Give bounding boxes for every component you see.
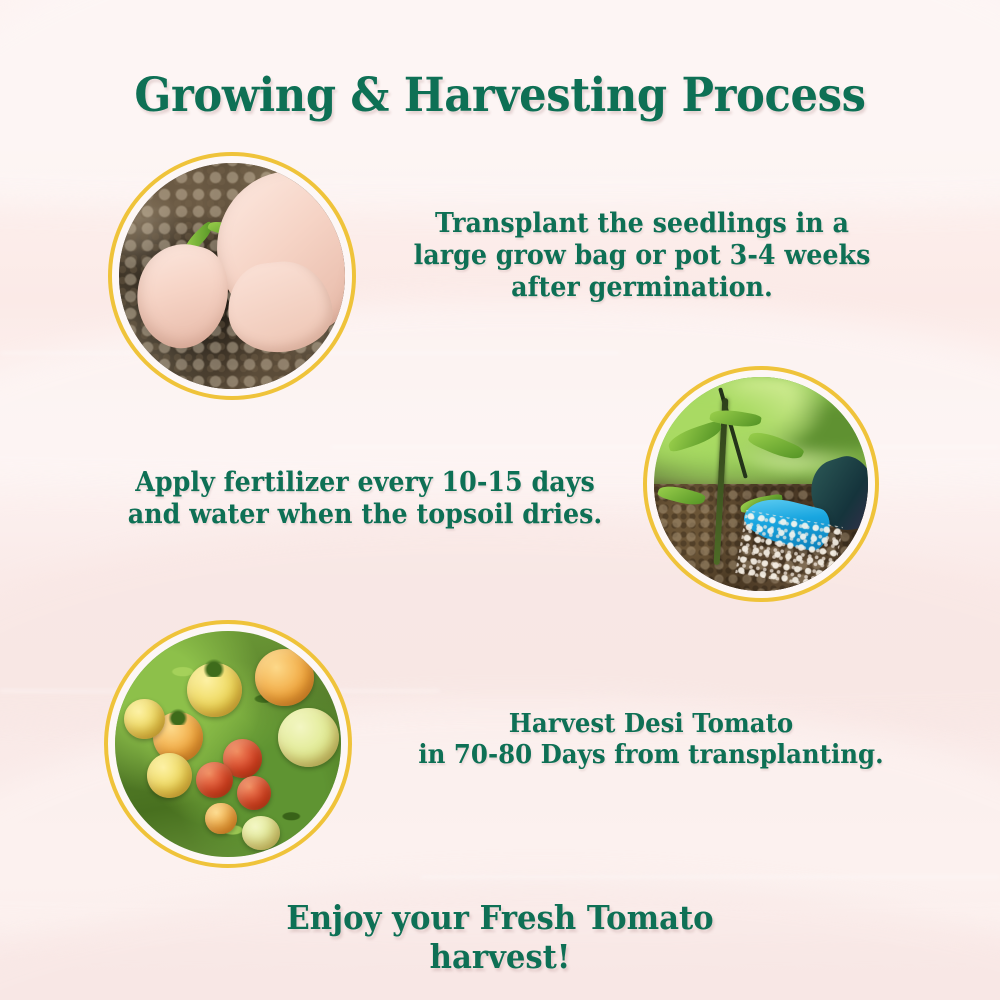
tomato-calyx <box>201 658 227 676</box>
tomato-calyx <box>166 708 190 725</box>
fertilizing-image <box>654 377 868 591</box>
tomato-fruit <box>124 699 165 740</box>
page-title: Growing & Harvesting Process <box>40 68 960 123</box>
step-harvest-caption-line-2: in 70-80 Days from transplanting. <box>411 740 890 771</box>
tomato-fruit <box>187 663 241 717</box>
step-transplant-caption: Transplant the seedlings in a large grow… <box>401 208 882 304</box>
seedling-planting-image <box>119 163 345 389</box>
step-harvest-caption: Harvest Desi Tomato in 70-80 Days from t… <box>411 709 890 770</box>
step-harvest-caption-line-1: Harvest Desi Tomato <box>411 709 890 740</box>
tomato-fruit <box>242 816 280 850</box>
tomato-cluster-image <box>115 631 341 857</box>
background-streak-4 <box>420 876 1000 878</box>
step-transplant-photo <box>108 152 356 400</box>
footer-note: Enjoy your Fresh Tomato harvest! <box>35 899 965 977</box>
step-fertilize-photo <box>643 366 879 602</box>
footer-note-line-2: harvest! <box>35 938 965 977</box>
tomato-fruit <box>196 762 232 798</box>
tomato-fruit <box>147 753 192 798</box>
tomato-fruit <box>255 649 314 706</box>
tomato-fruit <box>237 776 271 810</box>
infographic-poster: Growing & Harvesting Process Transplant … <box>0 0 1000 1000</box>
tomato-fruit <box>278 708 339 767</box>
step-harvest-photo <box>104 620 352 868</box>
tomato-fruit <box>205 803 237 835</box>
footer-note-line-1: Enjoy your Fresh Tomato <box>35 899 965 938</box>
step-fertilize-caption: Apply fertilizer every 10-15 days and wa… <box>116 467 614 531</box>
